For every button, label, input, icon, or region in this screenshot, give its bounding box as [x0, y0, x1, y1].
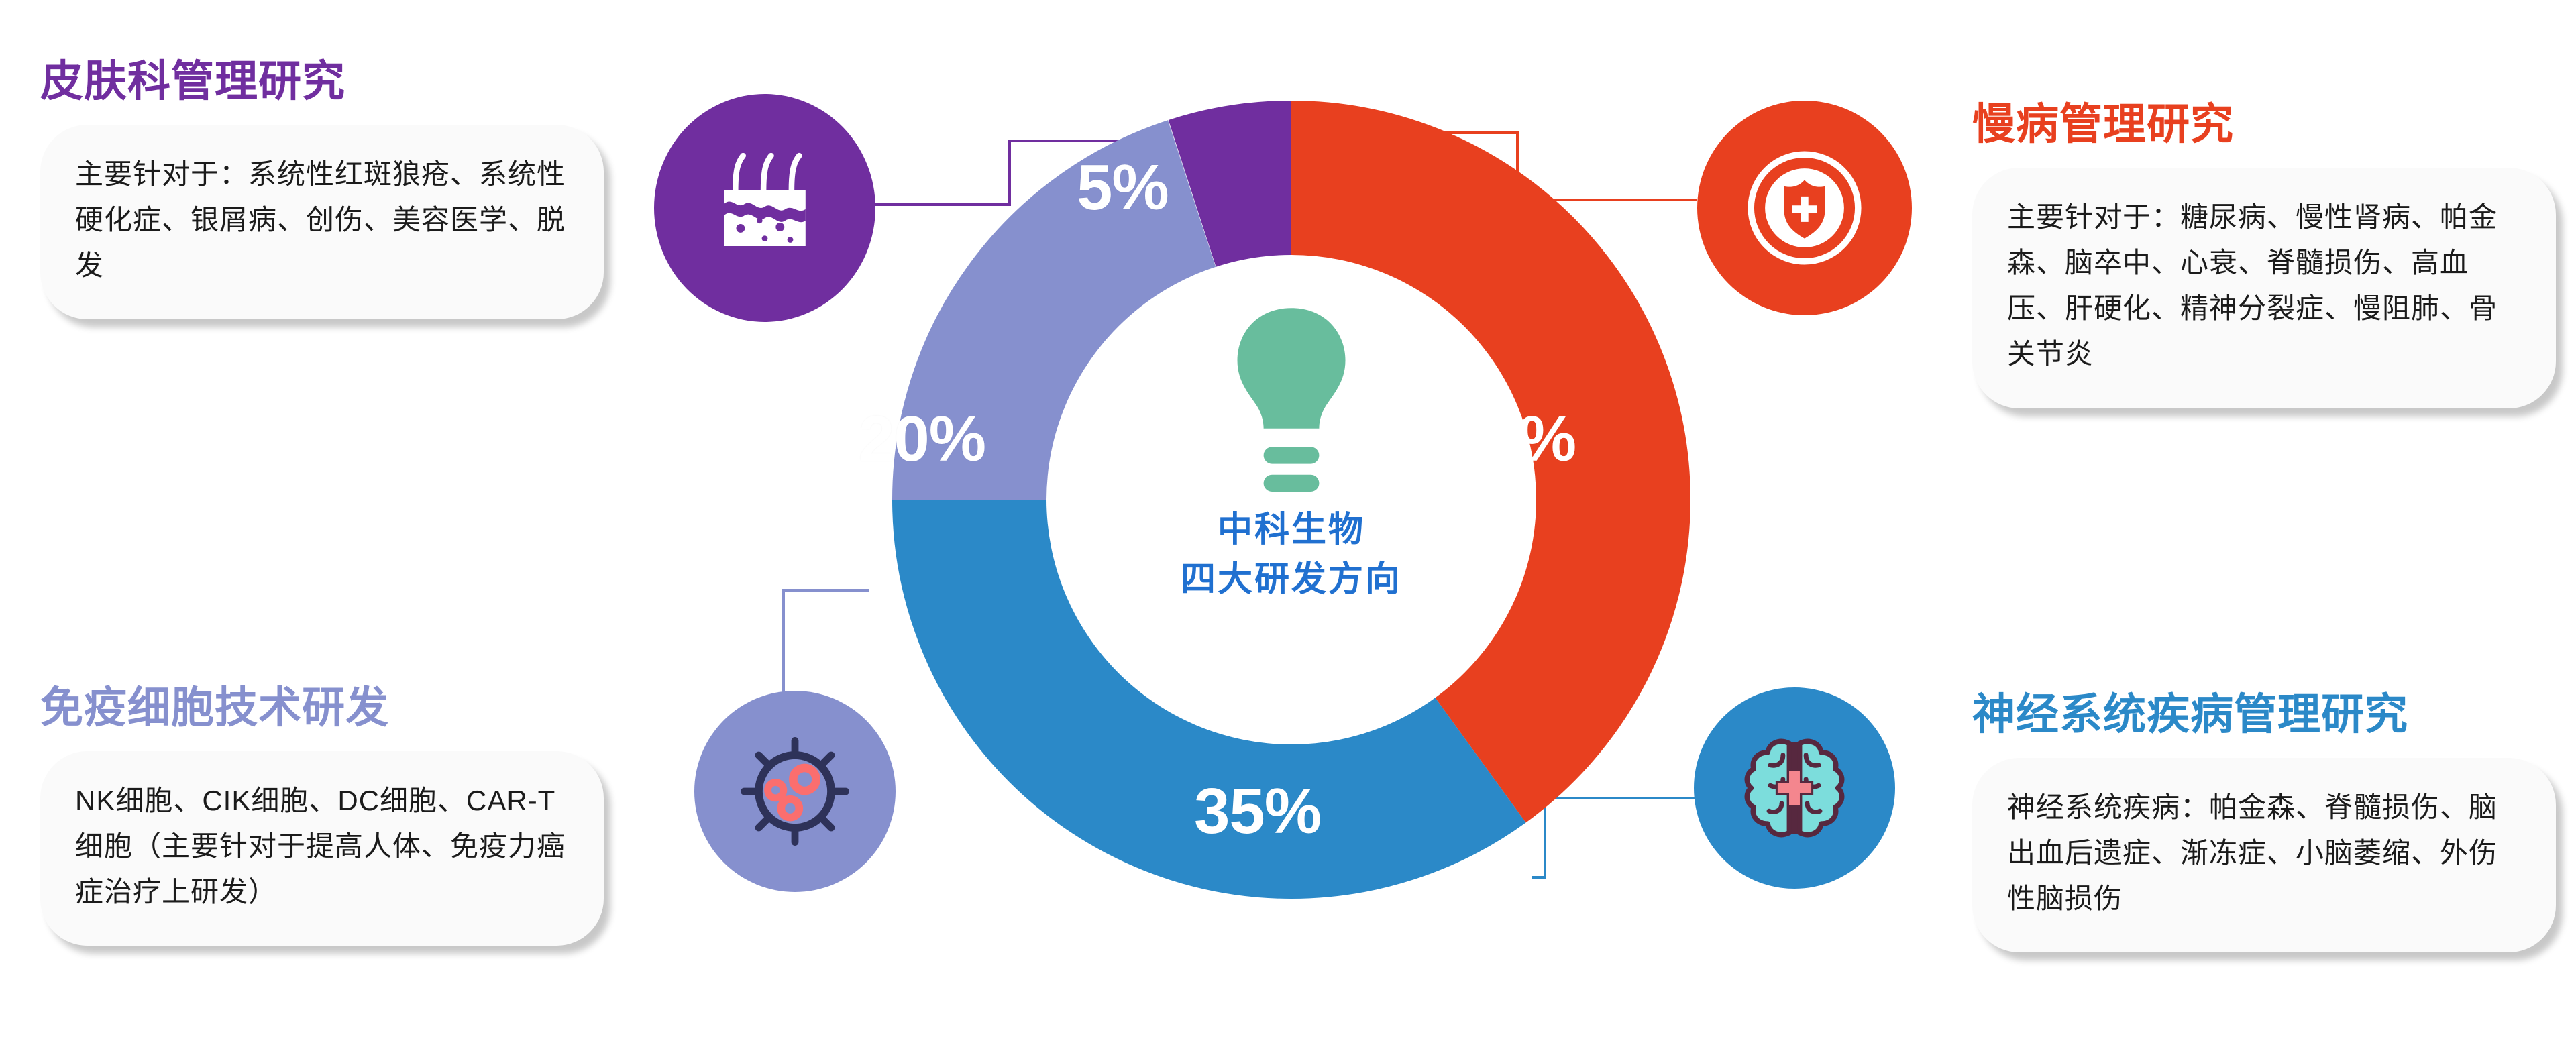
- quadrant-title-neuro: 神经系统疾病管理研究: [1972, 691, 2563, 738]
- icon-bubble-immune[interactable]: [694, 691, 896, 892]
- icon-bubble-dermatology[interactable]: [654, 94, 875, 322]
- quadrant-neuro: 神经系统疾病管理研究 神经系统疾病：帕金森、脊髓损伤、脑出血后遗症、渐冻症、小脑…: [1972, 691, 2563, 952]
- quadrant-title-immune: 免疫细胞技术研发: [40, 684, 631, 731]
- quadrant-immune: 免疫细胞技术研发 NK细胞、CIK细胞、DC细胞、CAR-T细胞（主要针对于提高…: [40, 684, 631, 946]
- quadrant-title-dermatology: 皮肤科管理研究: [40, 58, 631, 105]
- donut-center-hub: 中科生物 四大研发方向: [1046, 255, 1536, 744]
- brain-medical-icon: [1731, 724, 1858, 852]
- hub-line-2: 四大研发方向: [1181, 555, 1402, 605]
- percent-label-neuro: 35%: [1194, 775, 1321, 848]
- infographic-canvas: 40% 35% 20% 5% 中科生物 四大研发方向: [0, 0, 2576, 1057]
- virus-cell-icon: [735, 731, 855, 852]
- icon-bubble-neuro[interactable]: [1694, 687, 1895, 889]
- quadrant-dermatology: 皮肤科管理研究 主要针对于：系统性红斑狼疮、系统性硬化症、银屑病、创伤、美容医学…: [40, 58, 631, 319]
- quadrant-body-neuro: 神经系统疾病：帕金森、脊髓损伤、脑出血后遗症、渐冻症、小脑萎缩、外伤性脑损伤: [1972, 758, 2556, 952]
- shield-medical-icon: [1741, 144, 1868, 272]
- quadrant-body-immune: NK细胞、CIK细胞、DC细胞、CAR-T细胞（主要针对于提高人体、免疫力癌症治…: [40, 751, 604, 946]
- quadrant-chronic: 慢病管理研究 主要针对于：糖尿病、慢性肾病、帕金森、脑卒中、心衰、脊髓损伤、高血…: [1972, 101, 2563, 408]
- quadrant-body-dermatology: 主要针对于：系统性红斑狼疮、系统性硬化症、银屑病、创伤、美容医学、脱发: [40, 125, 604, 319]
- icon-bubble-chronic[interactable]: [1697, 101, 1912, 315]
- percent-label-dermatology: 5%: [1077, 151, 1169, 225]
- percent-label-immune: 20%: [859, 402, 985, 476]
- hub-line-1: 中科生物: [1181, 506, 1402, 555]
- skin-layers-icon: [701, 144, 828, 272]
- quadrant-body-chronic: 主要针对于：糖尿病、慢性肾病、帕金森、脑卒中、心衰、脊髓损伤、高血压、肝硬化、精…: [1972, 168, 2556, 408]
- quadrant-title-chronic: 慢病管理研究: [1972, 101, 2563, 148]
- lightbulb-icon: [1214, 302, 1368, 496]
